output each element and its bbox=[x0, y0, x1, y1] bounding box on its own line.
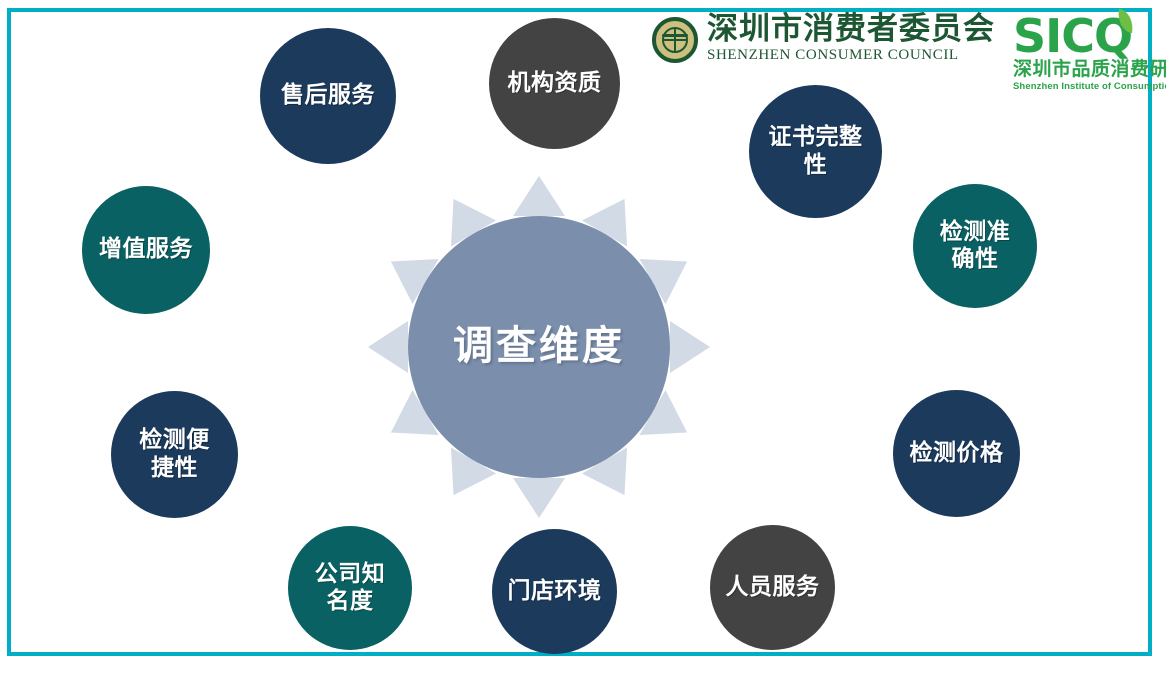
dimension-node-5[interactable]: 检测价格 bbox=[893, 390, 1020, 517]
dimension-node-8[interactable]: 公司知名度 bbox=[288, 526, 412, 650]
dimension-node-10[interactable]: 增值服务 bbox=[82, 186, 210, 314]
slide-canvas: 深圳市消费者委员会 SHENZHEN CONSUMER COUNCIL SICQ… bbox=[0, 0, 1166, 673]
dimension-node-9[interactable]: 检测便捷性 bbox=[111, 391, 238, 518]
header-logo-bar: 深圳市消费者委员会 SHENZHEN CONSUMER COUNCIL SICQ… bbox=[652, 14, 1152, 90]
dimension-node-label: 机构资质 bbox=[500, 70, 610, 97]
sicq-wordmark-icon: SICQ bbox=[1013, 14, 1166, 58]
scc-chinese-title: 深圳市消费者委员会 bbox=[707, 14, 995, 45]
dimension-node-label: 检测准确性 bbox=[932, 219, 1019, 273]
center-hub-circle: 调查维度 bbox=[408, 216, 670, 478]
dimension-node-3[interactable]: 证书完整性 bbox=[749, 85, 882, 218]
sicq-logo: SICQ 深圳市品质消费研究院 Shenzhen Institute of Co… bbox=[1013, 14, 1166, 92]
dimension-node-1[interactable]: 售后服务 bbox=[260, 28, 396, 164]
dimension-node-label: 门店环境 bbox=[500, 578, 610, 605]
sicq-english-title: Shenzhen Institute of Consumption Qualit… bbox=[1013, 82, 1166, 92]
dimension-node-label: 公司知名度 bbox=[307, 561, 394, 615]
scc-english-title: SHENZHEN CONSUMER COUNCIL bbox=[707, 48, 995, 63]
dimension-node-label: 增值服务 bbox=[91, 236, 201, 263]
dimension-node-4[interactable]: 检测准确性 bbox=[913, 184, 1037, 308]
dimension-node-2[interactable]: 机构资质 bbox=[489, 18, 620, 149]
dimension-node-label: 售后服务 bbox=[273, 82, 383, 109]
dimension-node-7[interactable]: 门店环境 bbox=[492, 529, 617, 654]
dimension-node-label: 证书完整性 bbox=[761, 124, 871, 178]
dimension-node-label: 检测便捷性 bbox=[131, 427, 218, 481]
dimension-node-label: 检测价格 bbox=[902, 440, 1012, 467]
globe-emblem-icon bbox=[652, 17, 698, 63]
sicq-wordmark-text: SICQ bbox=[1013, 13, 1132, 59]
shenzhen-consumer-council-logo: 深圳市消费者委员会 SHENZHEN CONSUMER COUNCIL bbox=[652, 14, 995, 63]
center-hub-label: 调查维度 bbox=[445, 323, 633, 370]
sicq-chinese-title: 深圳市品质消费研究院 bbox=[1013, 60, 1166, 79]
dimension-node-6[interactable]: 人员服务 bbox=[710, 525, 835, 650]
dimension-node-label: 人员服务 bbox=[718, 574, 828, 601]
